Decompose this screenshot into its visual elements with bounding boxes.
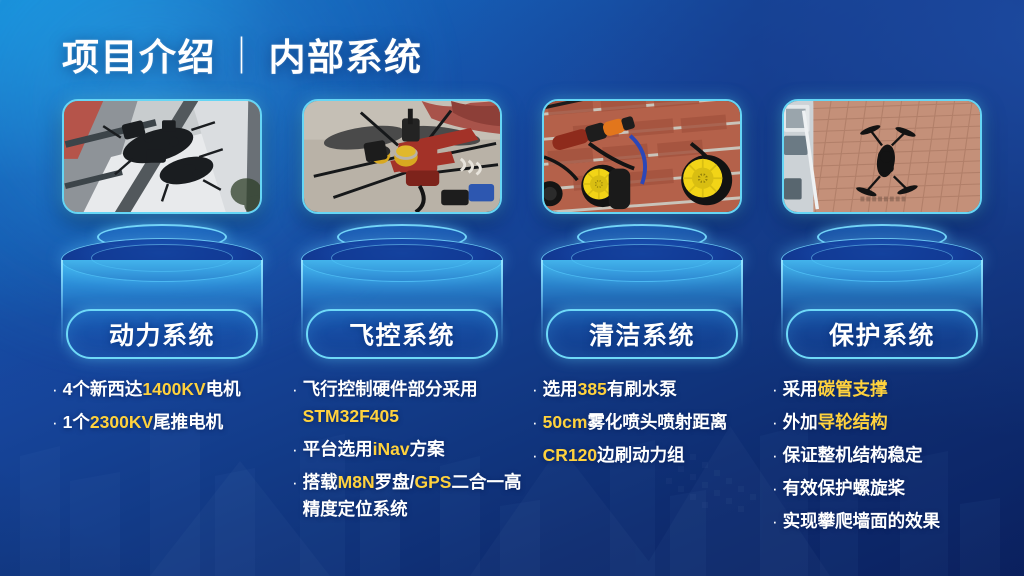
bullet-list-3: ·采用碳管支撑·外加导轮结构·保证整机结构稳定·有效保护螺旋桨·实现攀爬墙面的效… xyxy=(770,376,1002,541)
drone-frame-motors-closeup-photo xyxy=(304,101,500,212)
bullet-marker-icon: · xyxy=(532,442,538,469)
bullet-plain: 飞行控制硬件部分采用 xyxy=(303,379,478,399)
column-power-system: 动力系统 ·4个新西达1400KV电机·1个2300KV尾推电机 xyxy=(42,0,282,576)
bullet-highlight: GPS xyxy=(415,472,452,492)
slide-root: 项目介绍 ｜ 内部系统 xyxy=(0,0,1024,576)
bullet-text: 飞行控制硬件部分采用STM32F405 xyxy=(303,376,522,430)
bullet-marker-icon: · xyxy=(52,376,58,403)
pedestal-edge-right xyxy=(741,260,743,348)
bullet-highlight: 1400KV xyxy=(142,379,205,399)
bullet-item: ·50cm雾化喷头喷射距离 xyxy=(530,409,762,436)
bullet-item: ·1个2300KV尾推电机 xyxy=(50,409,282,436)
bullet-text: 搭载M8N罗盘/GPS二合一高精度定位系统 xyxy=(303,469,522,523)
bullet-plain: 采用 xyxy=(783,379,818,399)
pedestal-edge-left xyxy=(541,260,543,348)
bullet-highlight: 2300KV xyxy=(90,412,153,432)
thumbnail-0[interactable] xyxy=(62,99,262,214)
columns-container: 动力系统 ·4个新西达1400KV电机·1个2300KV尾推电机 xyxy=(0,0,1024,576)
bullet-item: ·采用碳管支撑 xyxy=(770,376,1002,403)
bullet-item: ·实现攀爬墙面的效果 xyxy=(770,508,1002,535)
bullet-list-0: ·4个新西达1400KV电机·1个2300KV尾推电机 xyxy=(50,376,282,442)
card-label-text: 保护系统 xyxy=(829,316,935,352)
pedestal-edge-right xyxy=(261,260,263,348)
bullet-text: CR120边刷动力组 xyxy=(543,442,685,469)
column-flight-control-system: 飞控系统 ·飞行控制硬件部分采用STM32F405·平台选用iNav方案·搭载M… xyxy=(282,0,522,576)
bullet-plain: 电机 xyxy=(206,379,241,399)
bullet-text: 选用385有刷水泵 xyxy=(543,376,677,403)
bullet-item: ·保证整机结构稳定 xyxy=(770,442,1002,469)
bullet-marker-icon: · xyxy=(532,409,538,436)
bullet-list-1: ·飞行控制硬件部分采用STM32F405·平台选用iNav方案·搭载M8N罗盘/… xyxy=(290,376,522,529)
bullet-text: 50cm雾化喷头喷射距离 xyxy=(543,409,728,436)
bullet-plain: 实现攀爬墙面的效果 xyxy=(783,511,941,531)
bullet-plain: 4个新西达 xyxy=(63,379,143,399)
column-cleaning-system: 清洁系统 ·选用385有刷水泵·50cm雾化喷头喷射距离·CR120边刷动力组 xyxy=(522,0,762,576)
bullet-text: 实现攀爬墙面的效果 xyxy=(783,508,941,535)
bullet-marker-icon: · xyxy=(292,469,298,496)
bullet-list-2: ·选用385有刷水泵·50cm雾化喷头喷射距离·CR120边刷动力组 xyxy=(530,376,762,475)
bullet-plain: 雾化喷头喷射距离 xyxy=(587,412,727,432)
bullet-highlight: 碳管支撑 xyxy=(818,379,888,399)
bullet-highlight: 50cm xyxy=(543,412,588,432)
bullet-marker-icon: · xyxy=(532,376,538,403)
bullet-highlight: STM32F405 xyxy=(303,406,399,426)
column-protection-system: 保护系统 ·采用碳管支撑·外加导轮结构·保证整机结构稳定·有效保护螺旋桨·实现攀… xyxy=(762,0,1002,576)
card-label-text: 飞控系统 xyxy=(349,316,455,352)
card-label-text: 清洁系统 xyxy=(589,316,695,352)
bullet-plain: 保证整机结构稳定 xyxy=(783,445,923,465)
bullet-plain: 有刷水泵 xyxy=(607,379,677,399)
bullet-item: ·CR120边刷动力组 xyxy=(530,442,762,469)
drone-climbing-brick-building-facade-photo xyxy=(784,101,980,212)
bullet-highlight: 导轮结构 xyxy=(818,412,888,432)
bullet-marker-icon: · xyxy=(772,508,778,535)
card-label-2[interactable]: 清洁系统 xyxy=(546,309,738,359)
yellow-brush-wheels-on-brick-wall-photo xyxy=(544,101,740,212)
bullet-highlight: 385 xyxy=(578,379,607,399)
bullet-plain: 边刷动力组 xyxy=(597,445,685,465)
bullet-item: ·选用385有刷水泵 xyxy=(530,376,762,403)
thumbnail-3[interactable] xyxy=(782,99,982,214)
bullet-plain: 罗盘/ xyxy=(375,472,415,492)
bullet-text: 1个2300KV尾推电机 xyxy=(63,409,223,436)
bullet-item: ·搭载M8N罗盘/GPS二合一高精度定位系统 xyxy=(290,469,522,523)
bullet-item: ·平台选用iNav方案 xyxy=(290,436,522,463)
pedestal-edge-right xyxy=(981,260,983,348)
bullet-marker-icon: · xyxy=(292,436,298,463)
thumbnail-1[interactable] xyxy=(302,99,502,214)
bullet-text: 外加导轮结构 xyxy=(783,409,888,436)
bullet-item: ·4个新西达1400KV电机 xyxy=(50,376,282,403)
card-label-1[interactable]: 飞控系统 xyxy=(306,309,498,359)
bullet-marker-icon: · xyxy=(772,376,778,403)
bullet-plain: 1个 xyxy=(63,412,90,432)
pedestal-edge-left xyxy=(301,260,303,348)
bullet-plain: 选用 xyxy=(543,379,578,399)
bullet-highlight: M8N xyxy=(338,472,375,492)
bullet-plain: 方案 xyxy=(410,439,445,459)
drone-on-glass-curtain-wall-photo xyxy=(64,101,260,212)
bullet-text: 平台选用iNav方案 xyxy=(303,436,445,463)
bullet-marker-icon: · xyxy=(52,409,58,436)
pedestal-edge-left xyxy=(781,260,783,348)
bullet-plain: 搭载 xyxy=(303,472,338,492)
bullet-plain: 尾推电机 xyxy=(153,412,223,432)
bullet-item: ·外加导轮结构 xyxy=(770,409,1002,436)
bullet-plain: 有效保护螺旋桨 xyxy=(783,478,906,498)
card-label-text: 动力系统 xyxy=(109,316,215,352)
bullet-marker-icon: · xyxy=(772,442,778,469)
bullet-text: 有效保护螺旋桨 xyxy=(783,475,906,502)
bullet-highlight: iNav xyxy=(373,439,410,459)
bullet-marker-icon: · xyxy=(292,376,298,403)
pedestal-edge-right xyxy=(501,260,503,348)
thumbnail-2[interactable] xyxy=(542,99,742,214)
bullet-text: 保证整机结构稳定 xyxy=(783,442,923,469)
card-label-0[interactable]: 动力系统 xyxy=(66,309,258,359)
bullet-highlight: CR120 xyxy=(543,445,597,465)
bullet-item: ·有效保护螺旋桨 xyxy=(770,475,1002,502)
bullet-marker-icon: · xyxy=(772,475,778,502)
bullet-item: ·飞行控制硬件部分采用STM32F405 xyxy=(290,376,522,430)
pedestal-edge-left xyxy=(61,260,63,348)
card-label-3[interactable]: 保护系统 xyxy=(786,309,978,359)
bullet-text: 4个新西达1400KV电机 xyxy=(63,376,241,403)
bullet-marker-icon: · xyxy=(772,409,778,436)
bullet-plain: 外加 xyxy=(783,412,818,432)
bullet-plain: 平台选用 xyxy=(303,439,373,459)
bullet-text: 采用碳管支撑 xyxy=(783,376,888,403)
